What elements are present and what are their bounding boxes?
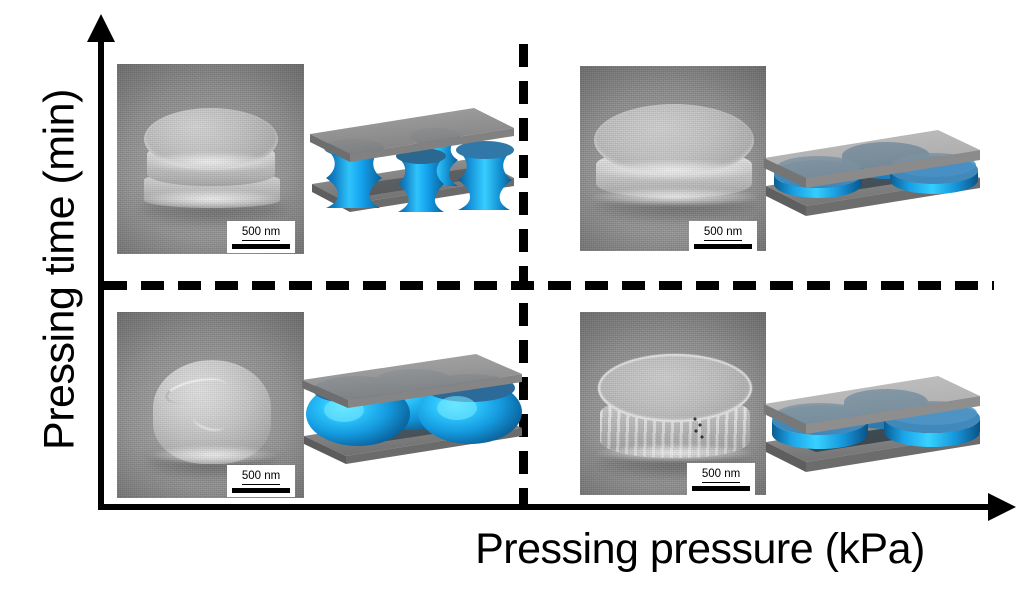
schematic-top-right bbox=[760, 116, 984, 220]
scalebar-rule bbox=[232, 488, 290, 493]
schematic-svg-hourglass bbox=[308, 92, 516, 232]
pillar-front-right bbox=[456, 141, 514, 210]
scalebar-rule bbox=[692, 486, 750, 491]
x-axis-label: Pressing pressure (kPa) bbox=[400, 525, 1000, 574]
sem-image-top-left: 500 nm bbox=[117, 64, 304, 254]
figure-root: Pressing time (min) Pressing pressure (k… bbox=[0, 0, 1024, 615]
scalebar-label: 500 nm bbox=[242, 471, 280, 485]
sem-image-bottom-left: 500 nm bbox=[117, 312, 304, 498]
quadrant-divider-horizontal bbox=[104, 281, 994, 290]
schematic-svg-flat-disc-wide bbox=[760, 368, 984, 478]
scalebar-bottom-right: 500 nm bbox=[687, 463, 755, 495]
sem-image-top-right: 500 nm bbox=[580, 66, 766, 251]
schematic-bottom-left bbox=[300, 352, 524, 468]
sem-image-bottom-right: 500 nm bbox=[580, 312, 766, 495]
scalebar-top-left: 500 nm bbox=[227, 221, 295, 253]
scalebar-label: 500 nm bbox=[242, 227, 280, 241]
scalebar-rule bbox=[232, 244, 290, 249]
scalebar-rule bbox=[694, 244, 752, 249]
schematic-top-left bbox=[308, 92, 516, 232]
scalebar-label: 500 nm bbox=[704, 227, 742, 241]
schematic-svg-flat-disc bbox=[760, 116, 984, 220]
scalebar-bottom-left: 500 nm bbox=[227, 465, 295, 497]
y-axis-arrow-icon bbox=[87, 14, 115, 42]
scalebar-top-right: 500 nm bbox=[689, 221, 757, 251]
y-axis-label: Pressing time (min) bbox=[36, 35, 85, 505]
schematic-svg-barrel bbox=[300, 352, 524, 468]
x-axis-line bbox=[98, 504, 998, 510]
x-axis-arrow-icon bbox=[988, 493, 1016, 521]
y-axis-line bbox=[98, 38, 104, 510]
scalebar-label: 500 nm bbox=[702, 469, 740, 483]
schematic-bottom-right bbox=[760, 368, 984, 478]
